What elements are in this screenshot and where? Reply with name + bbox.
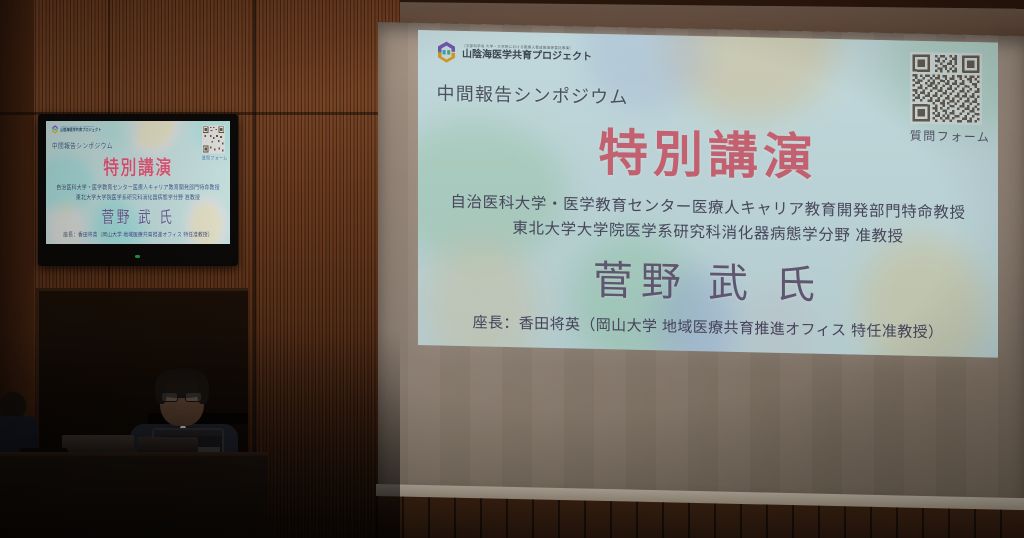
monitor-project-logo-icon [52,125,59,134]
monitor-speaker-name: 菅野 武 氏 [46,205,230,228]
glasses-bridge [178,396,185,398]
monitor-main-title: 特別講演 [46,152,230,180]
project-logo: （文部科学省 大学・大学院における医療人養成推進等委託事業） 山陰海医学共育プロ… [436,40,592,66]
monitor-symposium-label: 中間報告シンポジウム [52,140,113,150]
speaker-podium [0,456,268,538]
project-logo-icon [436,40,457,63]
monitor-chairperson-line: 座長：香田将英（岡山大学 地域医療共育推進オフィス 特任准教授） [46,230,230,238]
speaker-glasses [161,392,203,402]
glasses-lens-right [185,392,202,402]
speaker-name: 菅野 武 氏 [418,244,998,315]
monitor-screen: （文部科学省 大学・大学院における医療人養成推進等委託事業） 山陰海医学共育プロ… [46,121,230,244]
monitor-affiliation-2: 東北大学大学院医学系研究科消化器病態学分野 准教授 [46,193,230,202]
monitor-affiliation-1: 自治医科大学・医学教育センター医療人キャリア教育開発部門特命教授 [46,183,230,192]
slide-content: （文部科学省 大学・大学院における医療人養成推進等委託事業） 山陰海医学共育プロ… [418,30,998,358]
monitor-power-led [135,255,140,258]
slide-main-title: 特別講演 [418,109,998,194]
monitor-project-logo: （文部科学省 大学・大学院における医療人養成推進等委託事業） 山陰海医学共育プロ… [52,125,101,134]
monitor-slide-content: （文部科学省 大学・大学院における医療人養成推進等委託事業） 山陰海医学共育プロ… [46,121,230,244]
qr-code-icon[interactable] [910,52,982,126]
monitor-logo-name: 山陰海医学共育プロジェクト [60,128,101,132]
project-logo-name: 山陰海医学共育プロジェクト [462,50,592,63]
monitor-qr-code-icon [202,125,225,153]
symposium-label: 中間報告シンポジウム [437,79,629,109]
projected-slide: （文部科学省 大学・大学院における医療人養成推進等委託事業） 山陰海医学共育プロ… [418,30,998,358]
monitor-slide-mirror: （文部科学省 大学・大学院における医療人養成推進等委託事業） 山陰海医学共育プロ… [46,121,230,244]
chairperson-line: 座長：香田将英（岡山大学 地域医療共育推進オフィス 特任准教授） [418,310,998,344]
wall-mounted-preview-monitor[interactable]: （文部科学省 大学・大学院における医療人養成推進等委託事業） 山陰海医学共育プロ… [38,114,238,266]
monitor-slide-canvas: （文部科学省 大学・大学院における医療人養成推進等委託事業） 山陰海医学共育プロ… [46,121,230,244]
glasses-lens-left [161,392,178,402]
slide-canvas: （文部科学省 大学・大学院における医療人養成推進等委託事業） 山陰海医学共育プロ… [418,30,998,358]
lecture-hall-scene: （文部科学省 大学・大学院における医療人養成推進等委託事業） 山陰海医学共育プロ… [0,0,1024,538]
